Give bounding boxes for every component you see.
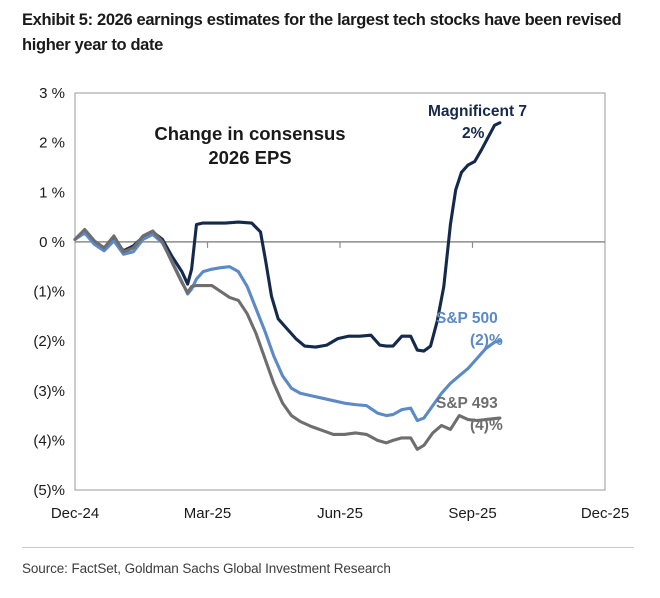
y-axis-tick-label: (2)% (33, 333, 65, 350)
plot-frame (75, 93, 605, 490)
chart-inner-title-line2: 2026 EPS (208, 147, 291, 168)
source-divider (22, 547, 634, 548)
y-axis-tick-label: 0 % (39, 234, 65, 251)
y-axis-tick-label: (1)% (33, 284, 65, 301)
line-chart: 3 %2 %1 %0 %(1)%(2)%(3)%(4)%(5)%Dec-24Ma… (0, 76, 660, 536)
y-axis-tick-label: 2 % (39, 135, 65, 152)
y-axis-tick-label: (5)% (33, 482, 65, 499)
exhibit-container: Exhibit 5: 2026 earnings estimates for t… (0, 0, 660, 598)
y-axis-tick-label: (4)% (33, 432, 65, 449)
chart-area: 3 %2 %1 %0 %(1)%(2)%(3)%(4)%(5)%Dec-24Ma… (0, 76, 660, 536)
x-axis-tick-label: Dec-25 (581, 505, 629, 522)
x-axis-tick-label: Sep-25 (448, 505, 496, 522)
mag7-label-value: 2% (462, 125, 485, 142)
sp500-label-value: (2)% (470, 332, 503, 349)
y-axis-tick-label: 1 % (39, 184, 65, 201)
page-title: Exhibit 5: 2026 earnings estimates for t… (22, 8, 630, 58)
x-axis-tick-label: Mar-25 (184, 505, 232, 522)
sp500-label: S&P 500 (436, 310, 498, 327)
source-note: Source: FactSet, Goldman Sachs Global In… (22, 561, 391, 576)
x-axis-tick-label: Jun-25 (317, 505, 363, 522)
x-axis-tick-label: Dec-24 (51, 505, 99, 522)
mag7-label: Magnificent 7 (428, 103, 527, 120)
sp493-label-value: (4)% (470, 417, 503, 434)
y-axis-tick-label: 3 % (39, 85, 65, 102)
sp493-label: S&P 493 (436, 395, 498, 412)
chart-inner-title-line1: Change in consensus (154, 123, 345, 144)
y-axis-tick-label: (3)% (33, 383, 65, 400)
